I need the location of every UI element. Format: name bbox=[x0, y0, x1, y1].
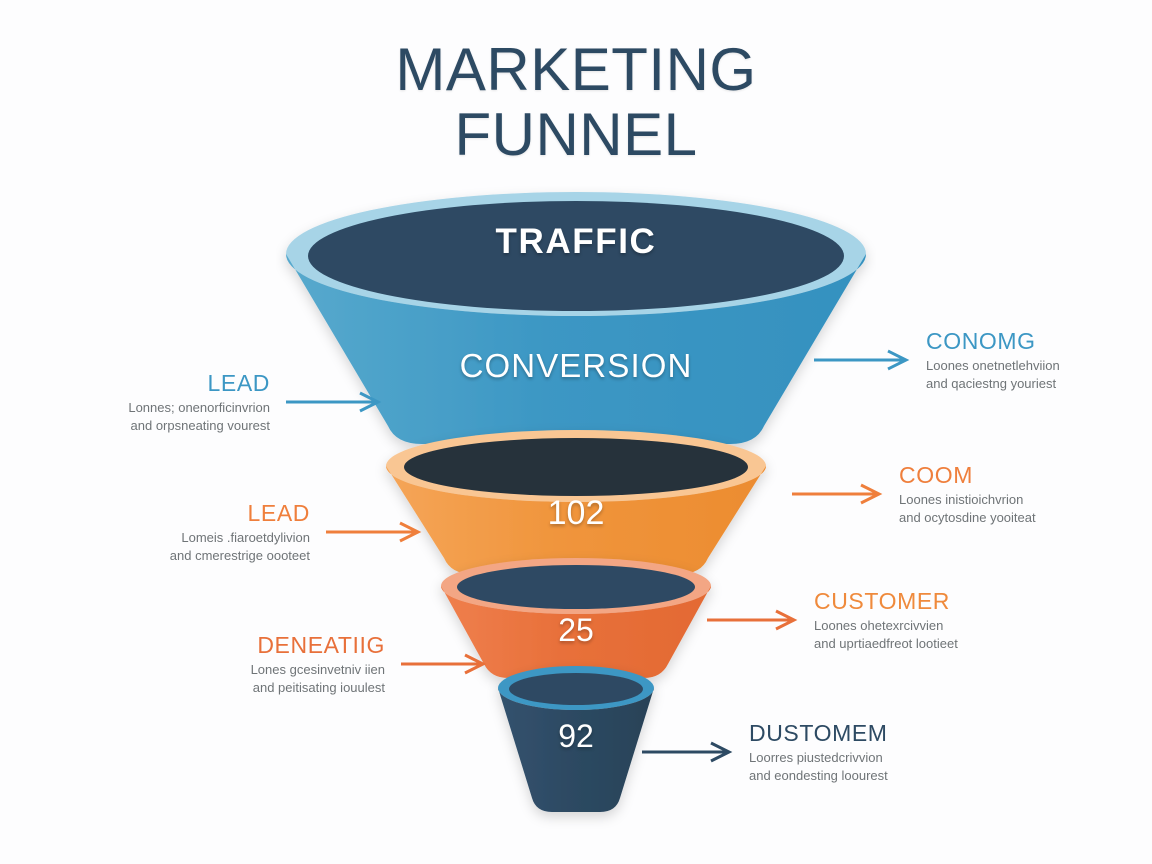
arrow-right-icon bbox=[812, 348, 912, 372]
callout-title: CUSTOMER bbox=[814, 588, 958, 614]
callout-title: COOM bbox=[899, 462, 1036, 488]
callout-left-lead-1[interactable]: LEAD Lonnes; onenorficinvrion and orpsne… bbox=[60, 370, 384, 434]
callout-text-block: CUSTOMER Loones ohetexrcivvien and uprti… bbox=[814, 588, 958, 652]
arrow-right-icon bbox=[284, 390, 384, 414]
callout-description: Lonnes; onenorficinvrion and orpsneating… bbox=[60, 399, 270, 433]
arrow-right-icon bbox=[399, 652, 489, 676]
callout-text-block: LEAD Lonnes; onenorficinvrion and orpsne… bbox=[60, 370, 270, 434]
callout-description: Loones ohetexrcivvien and uprtiaedfreot … bbox=[814, 617, 958, 651]
callout-title: CONOMG bbox=[926, 328, 1060, 354]
callout-description: Loones onetnetlehviion and qaciestng you… bbox=[926, 357, 1060, 391]
callout-text-block: COOM Loones inistioichvrion and ocytosdi… bbox=[899, 462, 1036, 526]
funnel-stage-102[interactable] bbox=[386, 430, 766, 574]
callout-description: Loorres piustedcrivvion and eondesting l… bbox=[749, 749, 888, 783]
arrow-right-icon bbox=[640, 740, 735, 764]
page-title: MARKETING FUNNEL bbox=[0, 38, 1152, 168]
callout-description: Lomeis .fiaroetdylivion and cmerestrige … bbox=[110, 529, 310, 563]
callout-text-block: DENEATIIG Lones gcesinvetniv iien and pe… bbox=[195, 632, 385, 696]
funnel-stage-92[interactable] bbox=[498, 666, 654, 812]
arrow-right-icon bbox=[790, 482, 885, 506]
arrow-right-icon bbox=[324, 520, 424, 544]
infographic-canvas: MARKETING FUNNEL bbox=[0, 0, 1152, 864]
callout-right-customer[interactable]: CUSTOMER Loones ohetexrcivvien and uprti… bbox=[705, 588, 958, 652]
callout-description: Loones inistioichvrion and ocytosdine yo… bbox=[899, 491, 1036, 525]
arrow-right-icon bbox=[705, 608, 800, 632]
callout-left-lead-2[interactable]: LEAD Lomeis .fiaroetdylivion and cmerest… bbox=[110, 500, 424, 564]
callout-title: LEAD bbox=[110, 500, 310, 526]
callout-title: LEAD bbox=[60, 370, 270, 396]
callout-right-dustomem[interactable]: DUSTOMEM Loorres piustedcrivvion and eon… bbox=[640, 720, 888, 784]
callout-right-coom[interactable]: COOM Loones inistioichvrion and ocytosdi… bbox=[790, 462, 1036, 526]
callout-text-block: DUSTOMEM Loorres piustedcrivvion and eon… bbox=[749, 720, 888, 784]
callout-title: DUSTOMEM bbox=[749, 720, 888, 746]
callout-description: Lones gcesinvetniv iien and peitisating … bbox=[195, 661, 385, 695]
callout-text-block: CONOMG Loones onetnetlehviion and qacies… bbox=[926, 328, 1060, 392]
callout-text-block: LEAD Lomeis .fiaroetdylivion and cmerest… bbox=[110, 500, 310, 564]
callout-left-deneatiig[interactable]: DENEATIIG Lones gcesinvetniv iien and pe… bbox=[195, 632, 489, 696]
callout-title: DENEATIIG bbox=[195, 632, 385, 658]
callout-right-conomg[interactable]: CONOMG Loones onetnetlehviion and qacies… bbox=[812, 328, 1060, 392]
